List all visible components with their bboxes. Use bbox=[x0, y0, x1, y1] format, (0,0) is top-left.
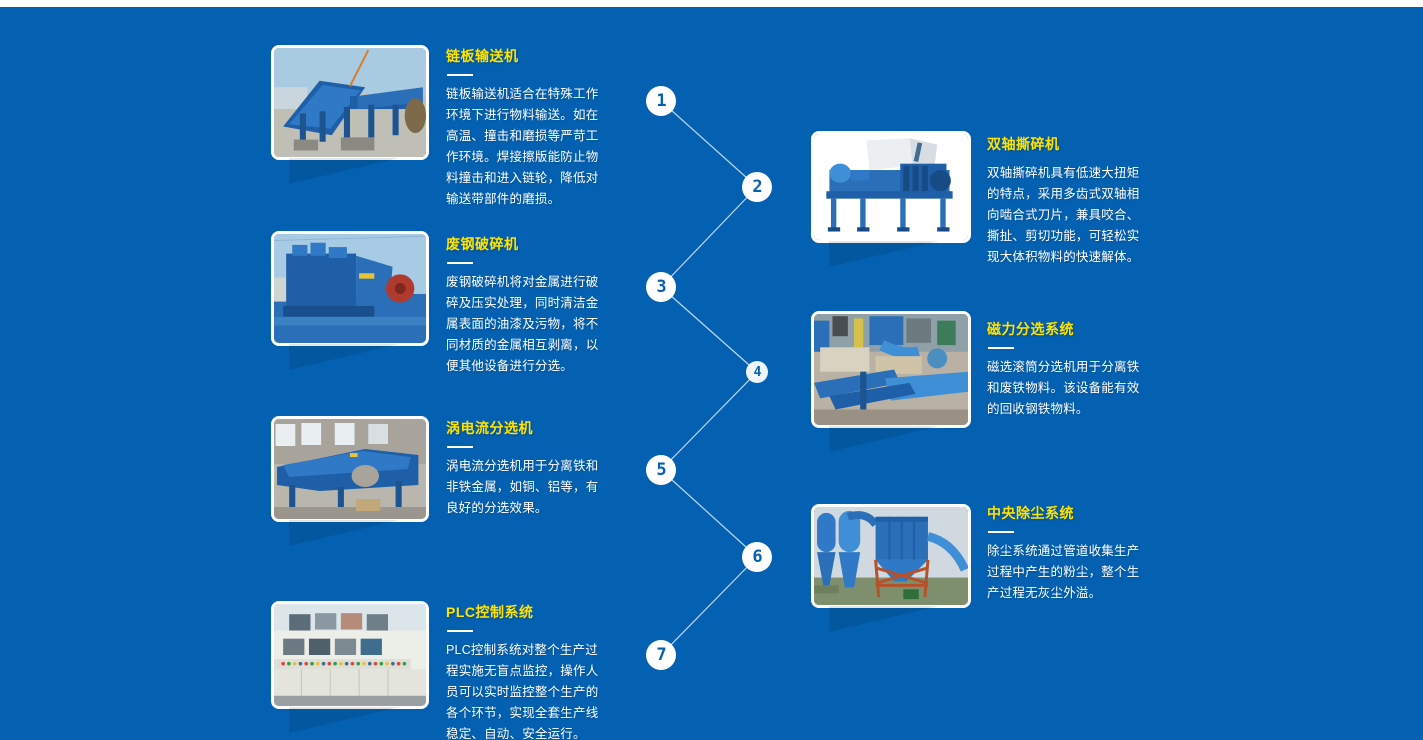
photo-drop-shadow bbox=[289, 158, 399, 184]
flow-edge-5-6 bbox=[661, 470, 757, 557]
title-divider bbox=[447, 446, 473, 448]
equipment-description: 除尘系统通过管道收集生产过程中产生的粉尘，整个生产过程无灰尘外溢。 bbox=[987, 541, 1149, 604]
flow-node-7[interactable]: 7 bbox=[646, 640, 676, 670]
equipment-card-text: 磁力分选系统磁选滚筒分选机用于分离铁和废铁物料。该设备能有效的回收钢铁物料。 bbox=[987, 320, 1149, 420]
equipment-card-text: 中央除尘系统除尘系统通过管道收集生产过程中产生的粉尘，整个生产过程无灰尘外溢。 bbox=[987, 504, 1149, 604]
flow-connector-lines bbox=[0, 7, 1423, 740]
equipment-card[interactable] bbox=[811, 504, 971, 608]
title-divider bbox=[447, 630, 473, 632]
equipment-title: PLC控制系统 bbox=[446, 603, 604, 621]
flow-edge-3-4 bbox=[661, 287, 757, 372]
equipment-description: 双轴撕碎机具有低速大扭矩的特点，采用多齿式双轴相向啮合式刀片，兼具咬合、撕扯、剪… bbox=[987, 163, 1149, 268]
equipment-description: 磁选滚筒分选机用于分离铁和废铁物料。该设备能有效的回收钢铁物料。 bbox=[987, 357, 1149, 420]
eddy-current-separator-photo bbox=[274, 419, 426, 519]
title-divider bbox=[447, 74, 473, 76]
equipment-card-text: 涡电流分选机涡电流分选机用于分离铁和非铁金属，如铜、铝等，有良好的分选效果。 bbox=[446, 419, 604, 519]
flow-node-4[interactable]: 4 bbox=[746, 361, 768, 383]
flow-edge-1-2 bbox=[661, 101, 757, 187]
scrap-steel-crusher-photo bbox=[274, 234, 426, 343]
page-root: 1234567 链板输送机链板输送机适合在特殊工作环境下进行物料输送。如在高温、… bbox=[0, 0, 1423, 740]
equipment-description: PLC控制系统对整个生产过程实施无盲点监控，操作人员可以实时监控整个生产的各个环… bbox=[446, 640, 604, 740]
title-divider bbox=[447, 262, 473, 264]
flow-edge-2-3 bbox=[661, 187, 757, 287]
equipment-photo[interactable] bbox=[271, 231, 429, 346]
equipment-description: 链板输送机适合在特殊工作环境下进行物料输送。如在高温、撞击和磨损等严苛工作环境。… bbox=[446, 84, 604, 210]
equipment-title: 双轴撕碎机 bbox=[987, 135, 1149, 153]
equipment-card[interactable] bbox=[271, 45, 429, 160]
equipment-title: 废钢破碎机 bbox=[446, 235, 604, 253]
flow-node-5[interactable]: 5 bbox=[646, 455, 676, 485]
equipment-photo[interactable] bbox=[271, 416, 429, 522]
magnetic-separation-photo bbox=[814, 314, 968, 425]
flow-node-label: 6 bbox=[752, 547, 761, 567]
flow-edge-4-5 bbox=[661, 372, 757, 470]
equipment-title: 链板输送机 bbox=[446, 47, 604, 65]
photo-drop-shadow bbox=[829, 426, 939, 452]
flow-node-3[interactable]: 3 bbox=[646, 272, 676, 302]
equipment-title: 磁力分选系统 bbox=[987, 320, 1149, 338]
equipment-card[interactable] bbox=[271, 416, 429, 522]
equipment-photo[interactable] bbox=[811, 311, 971, 428]
flow-node-1[interactable]: 1 bbox=[646, 86, 676, 116]
flow-node-label: 7 bbox=[656, 645, 665, 665]
flow-node-label: 5 bbox=[656, 460, 665, 480]
photo-drop-shadow bbox=[289, 344, 399, 370]
photo-drop-shadow bbox=[289, 707, 399, 733]
equipment-description: 涡电流分选机用于分离铁和非铁金属，如铜、铝等，有良好的分选效果。 bbox=[446, 456, 604, 519]
equipment-card-text: 双轴撕碎机双轴撕碎机具有低速大扭矩的特点，采用多齿式双轴相向啮合式刀片，兼具咬合… bbox=[987, 135, 1149, 268]
title-divider bbox=[988, 531, 1014, 533]
flow-node-label: 3 bbox=[656, 277, 665, 297]
equipment-photo[interactable] bbox=[271, 45, 429, 160]
equipment-title: 中央除尘系统 bbox=[987, 504, 1149, 522]
equipment-card[interactable] bbox=[811, 311, 971, 428]
equipment-photo[interactable] bbox=[811, 504, 971, 608]
photo-drop-shadow bbox=[829, 606, 939, 632]
equipment-title: 涡电流分选机 bbox=[446, 419, 604, 437]
plc-control-room-photo bbox=[274, 604, 426, 706]
equipment-photo[interactable] bbox=[811, 131, 971, 243]
equipment-card-text: 废钢破碎机废钢破碎机将对金属进行破碎及压实处理，同时清洁金属表面的油漆及污物，将… bbox=[446, 235, 604, 377]
chain-plate-conveyor-photo bbox=[274, 48, 426, 157]
equipment-card[interactable] bbox=[271, 231, 429, 346]
flow-node-label: 1 bbox=[656, 91, 665, 111]
equipment-card[interactable] bbox=[811, 131, 971, 243]
flow-edge-6-7 bbox=[661, 557, 757, 655]
flow-node-6[interactable]: 6 bbox=[742, 542, 772, 572]
photo-drop-shadow bbox=[289, 520, 399, 546]
flow-node-2[interactable]: 2 bbox=[742, 172, 772, 202]
photo-drop-shadow bbox=[829, 241, 939, 267]
equipment-description: 废钢破碎机将对金属进行破碎及压实处理，同时清洁金属表面的油漆及污物，将不同材质的… bbox=[446, 272, 604, 377]
title-divider bbox=[988, 347, 1014, 349]
equipment-card-text: PLC控制系统PLC控制系统对整个生产过程实施无盲点监控，操作人员可以实时监控整… bbox=[446, 603, 604, 740]
flow-node-label: 2 bbox=[752, 177, 761, 197]
equipment-card[interactable] bbox=[271, 601, 429, 709]
blue-background-panel: 1234567 链板输送机链板输送机适合在特殊工作环境下进行物料输送。如在高温、… bbox=[0, 7, 1423, 740]
twin-shaft-shredder-photo bbox=[814, 134, 968, 240]
flow-node-label: 4 bbox=[754, 365, 761, 380]
equipment-card-text: 链板输送机链板输送机适合在特殊工作环境下进行物料输送。如在高温、撞击和磨损等严苛… bbox=[446, 47, 604, 210]
central-dust-removal-photo bbox=[814, 507, 968, 605]
equipment-photo[interactable] bbox=[271, 601, 429, 709]
